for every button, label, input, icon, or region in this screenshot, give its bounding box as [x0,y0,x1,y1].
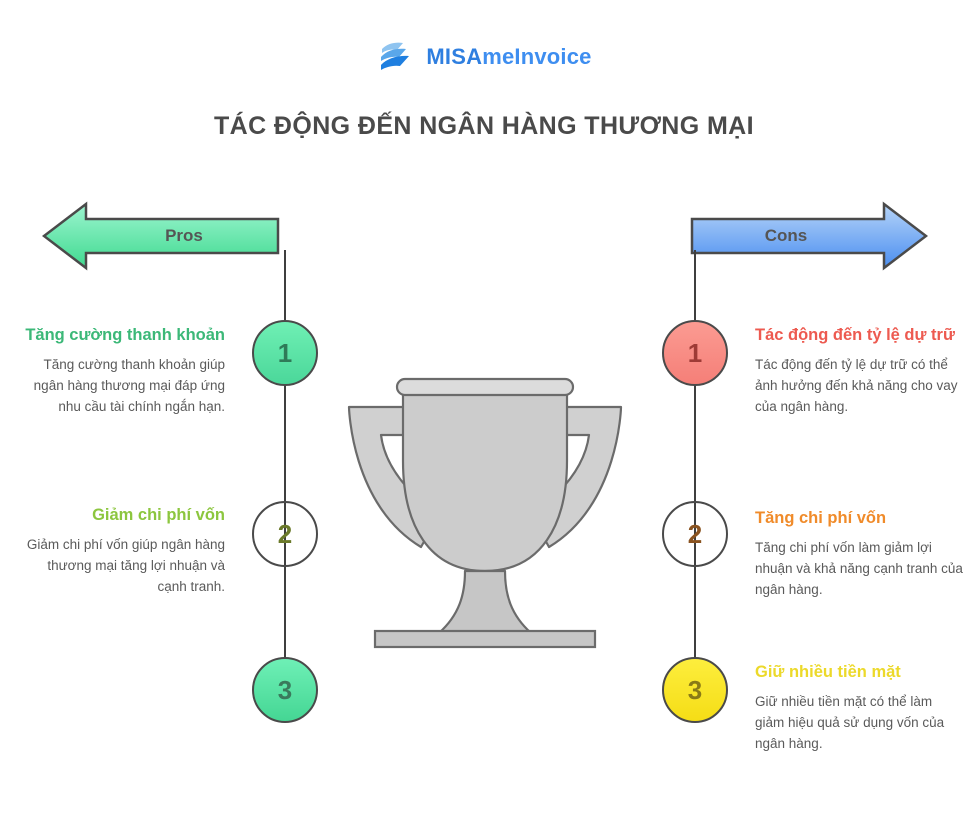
cons-item-1-heading: Tác động đến tỷ lệ dự trữ [755,325,965,346]
cons-node-1-number: 1 [688,338,702,369]
pros-node-3[interactable]: 3 [252,657,318,723]
pros-item-1-body: Tăng cường thanh khoản giúp ngân hàng th… [15,355,225,418]
pros-banner-label: Pros [88,200,280,272]
misa-swoosh-logo-icon [376,40,416,74]
cons-item-3-body: Giữ nhiều tiền mặt có thể làm giảm hiệu … [755,692,965,755]
brand-logo: MISAmeInvoice [0,40,968,74]
cons-node-2[interactable]: 2 [662,501,728,567]
infographic-page: MISAmeInvoice TÁC ĐỘNG ĐẾN NGÂN HÀNG THƯ… [0,0,968,823]
cons-item-3: Giữ nhiều tiền mặt Giữ nhiều tiền mặt có… [755,662,965,755]
cons-banner: Cons [690,200,928,272]
pros-item-1-heading: Tăng cường thanh khoản [15,325,225,346]
pros-node-2-number: 2 [278,519,292,550]
pros-item-2-heading: Giảm chi phí vốn [15,505,225,526]
trophy-icon [335,365,635,660]
cons-banner-label: Cons [690,200,882,272]
page-title: TÁC ĐỘNG ĐẾN NGÂN HÀNG THƯƠNG MẠI [0,112,968,141]
pros-banner: Pros [42,200,280,272]
pros-item-1: Tăng cường thanh khoản Tăng cường thanh … [15,325,225,418]
cons-node-3[interactable]: 3 [662,657,728,723]
brand-name: MISAmeInvoice [426,44,591,70]
cons-item-1-body: Tác động đến tỷ lệ dự trữ có thể ảnh hưở… [755,355,965,418]
pros-node-1-number: 1 [278,338,292,369]
brand-name-secondary: meInvoice [482,44,591,69]
cons-node-3-number: 3 [688,675,702,706]
cons-item-2-body: Tăng chi phí vốn làm giảm lợi nhuận và k… [755,538,965,601]
cons-node-2-number: 2 [688,519,702,550]
pros-node-1[interactable]: 1 [252,320,318,386]
cons-item-2-heading: Tăng chi phí vốn [755,508,965,529]
cons-item-3-heading: Giữ nhiều tiền mặt [755,662,965,683]
cons-item-1: Tác động đến tỷ lệ dự trữ Tác động đến t… [755,325,965,418]
pros-node-3-number: 3 [278,675,292,706]
pros-item-2: Giảm chi phí vốn Giảm chi phí vốn giúp n… [15,505,225,598]
pros-node-2[interactable]: 2 [252,501,318,567]
cons-node-1[interactable]: 1 [662,320,728,386]
cons-item-2: Tăng chi phí vốn Tăng chi phí vốn làm gi… [755,508,965,601]
pros-item-2-body: Giảm chi phí vốn giúp ngân hàng thương m… [15,535,225,598]
brand-name-primary: MISA [426,44,482,69]
